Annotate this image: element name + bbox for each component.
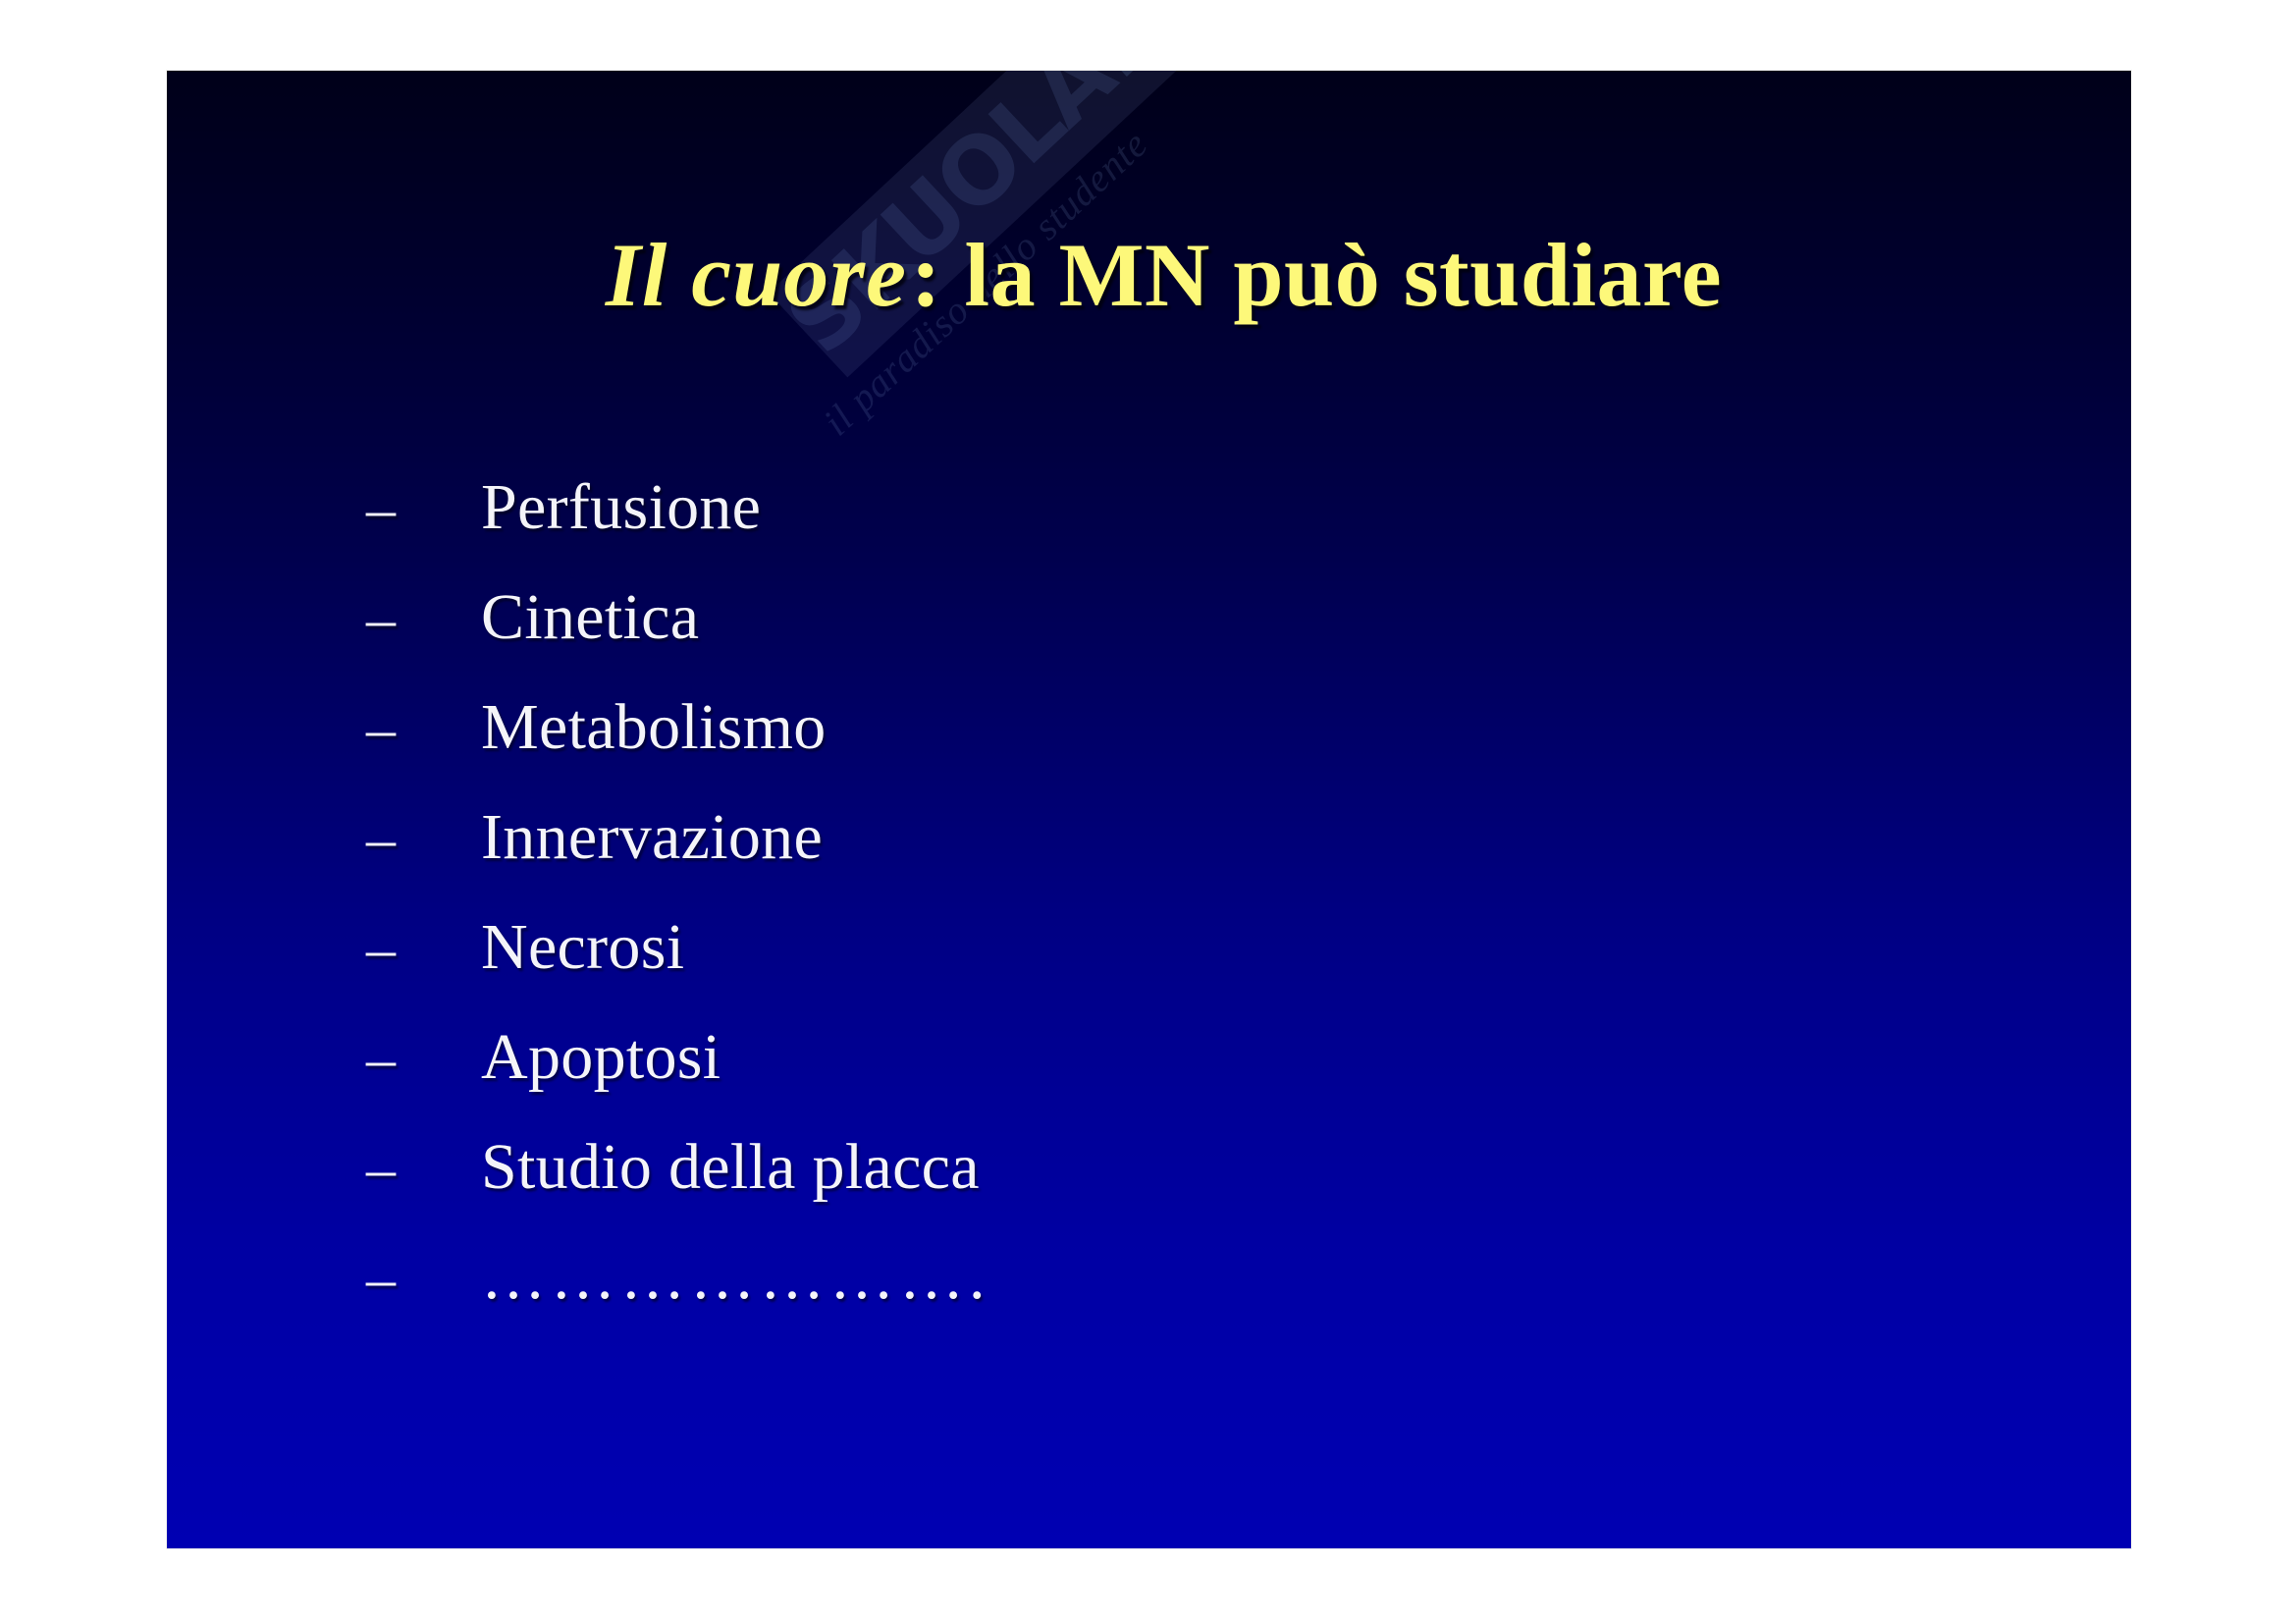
list-item: – Perfusione [363, 475, 2032, 585]
slide-canvas: SKUOLA.net il paradiso dello studente Il… [167, 71, 2131, 1548]
bullet-label: Perfusione [481, 475, 761, 540]
list-item: – Innervazione [363, 805, 2032, 915]
watermark-brand-suffix: .net [1062, 71, 1278, 99]
bullet-list: – Perfusione – Cinetica – Metabolismo – … [363, 475, 2032, 1355]
slide-title-rest: : la MN può studiare [911, 225, 1722, 325]
bullet-dash-icon: – [363, 699, 481, 758]
bullet-dash-icon: – [363, 479, 481, 538]
slide-title-emphasis: Il cuore [606, 225, 911, 325]
bullet-label: Cinetica [481, 585, 699, 650]
bullet-label-ellipsis: …………………. [481, 1245, 990, 1310]
bullet-label: Innervazione [481, 805, 823, 870]
bullet-dash-icon: – [363, 589, 481, 648]
slide-title: Il cuore: la MN può studiare [167, 228, 2131, 323]
list-item: – Metabolismo [363, 695, 2032, 805]
bullet-dash-icon: – [363, 919, 481, 978]
bullet-label: Apoptosi [481, 1025, 721, 1090]
bullet-dash-icon: – [363, 1249, 481, 1308]
bullet-label: Studio della placca [481, 1135, 980, 1200]
bullet-dash-icon: – [363, 1029, 481, 1088]
list-item: – …………………. [363, 1245, 2032, 1355]
list-item: – Cinetica [363, 585, 2032, 695]
list-item: – Necrosi [363, 915, 2032, 1025]
list-item: – Studio della placca [363, 1135, 2032, 1245]
watermark-brand-name: SKUOLA [767, 71, 1135, 375]
bullet-dash-icon: – [363, 809, 481, 868]
bullet-label: Metabolismo [481, 695, 827, 760]
list-item: – Apoptosi [363, 1025, 2032, 1135]
bullet-label: Necrosi [481, 915, 684, 980]
bullet-dash-icon: – [363, 1139, 481, 1198]
watermark-brand: SKUOLA.net [767, 71, 1184, 375]
